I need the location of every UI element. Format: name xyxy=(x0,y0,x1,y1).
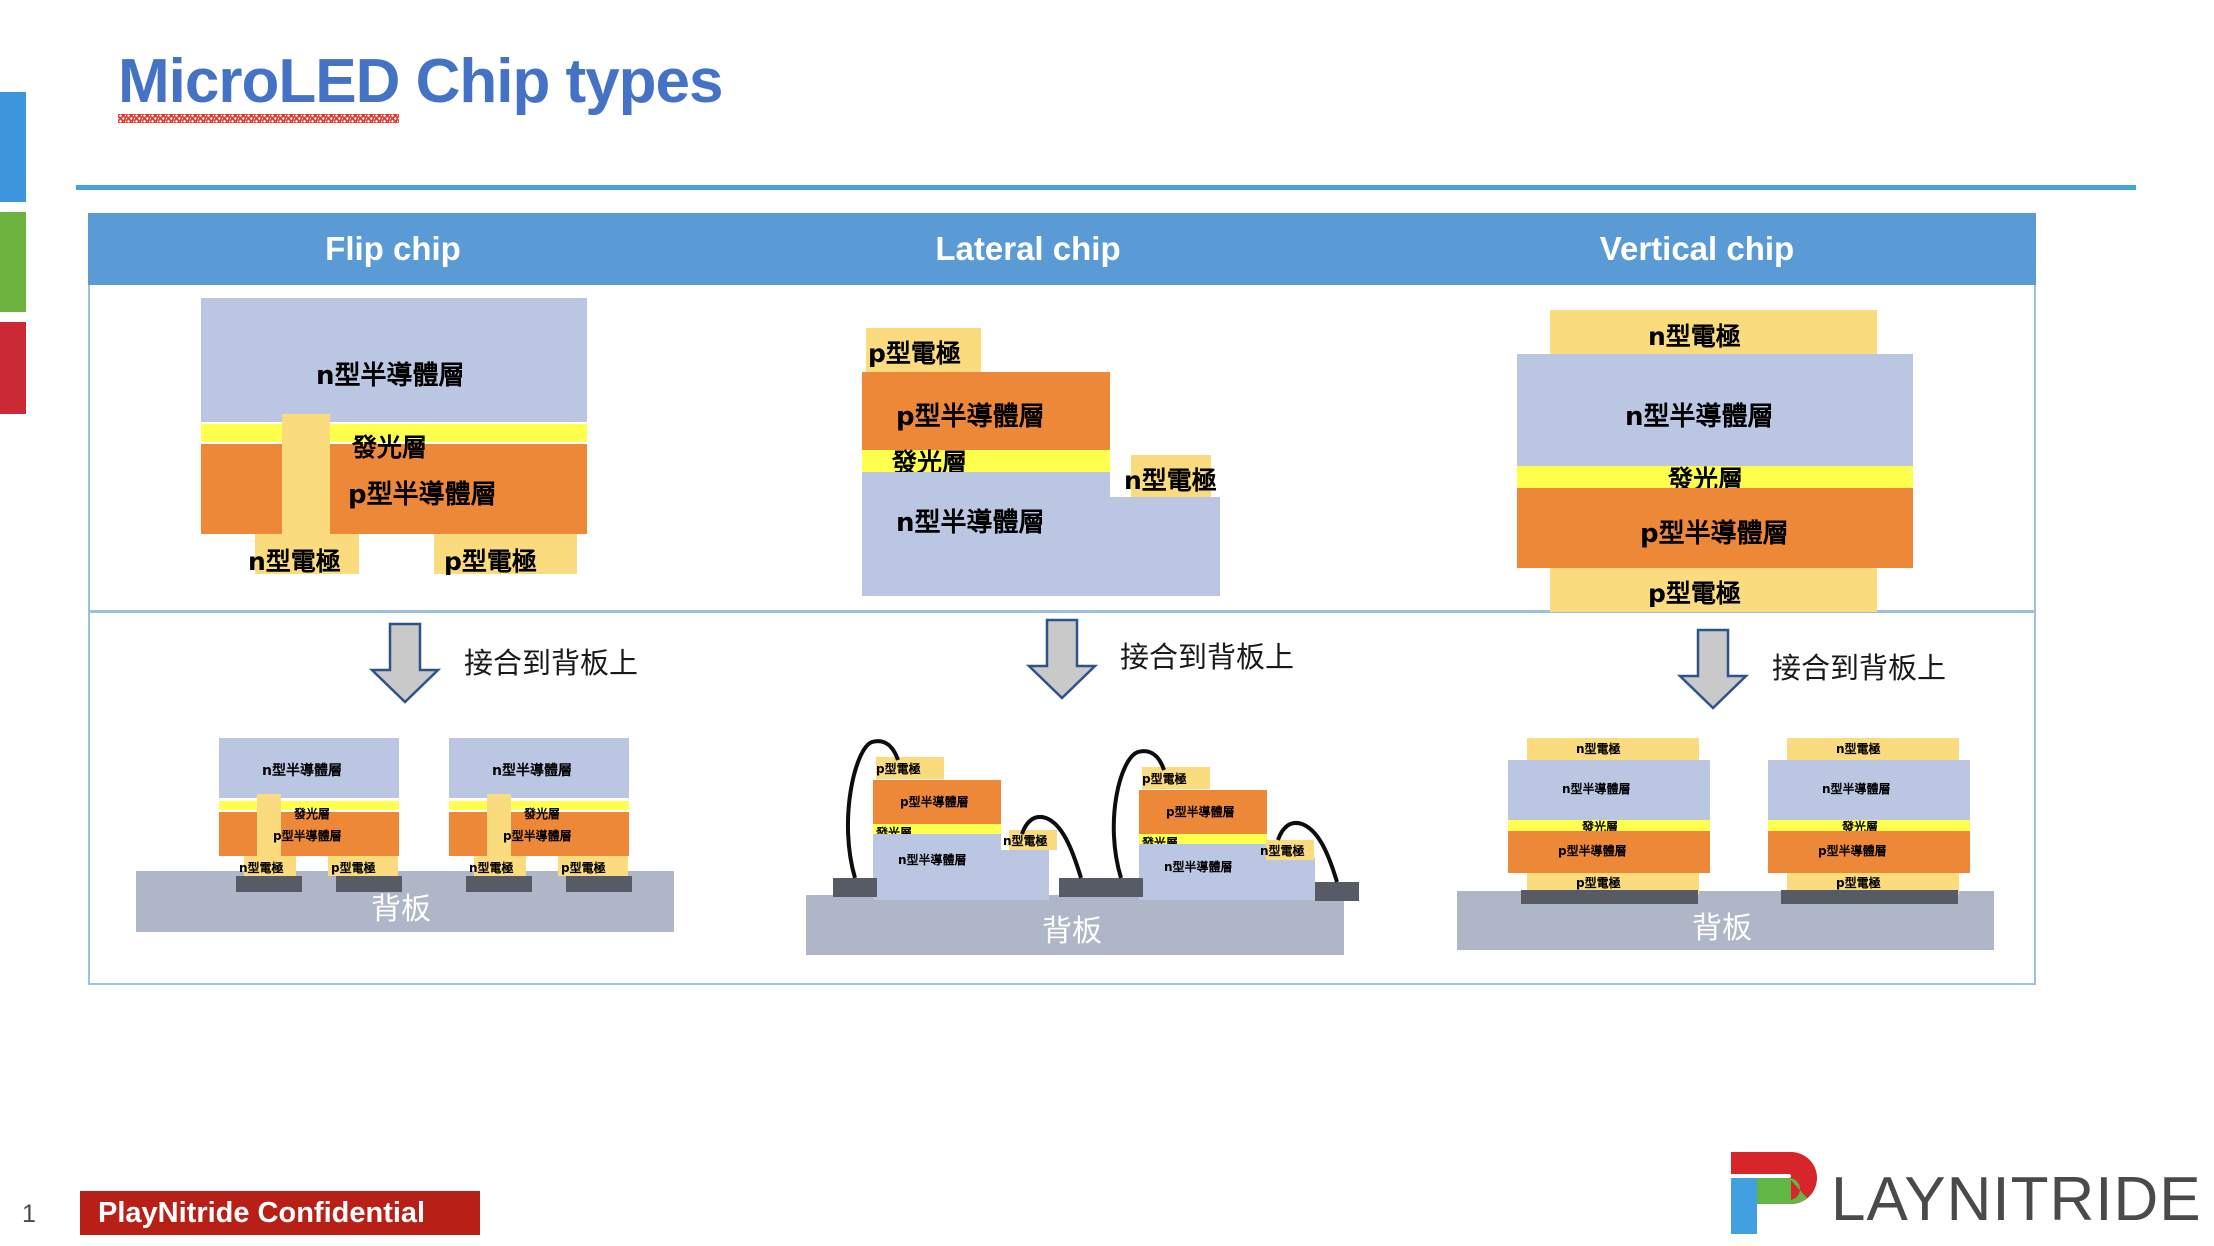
flip-bonded-solder-pad-a1 xyxy=(236,876,302,892)
lateral-bond-arrow-icon xyxy=(1025,618,1099,700)
slide-canvas: MicroLED Chip types Flip chip Lateral ch… xyxy=(0,0,2214,1246)
vertical-backplane-label: 背板 xyxy=(1692,903,1752,947)
flip-bonded-n-electrode-label-b: n型電極 xyxy=(469,859,514,876)
flip-bonded-solder-pad-b2 xyxy=(566,876,632,892)
flip-bonded-n-electrode-label-a: n型電極 xyxy=(239,859,284,876)
confidential-banner: PlayNitride Confidential xyxy=(80,1191,480,1235)
flip-bonded-solder-pad-a2 xyxy=(336,876,402,892)
vertical-bonded-n-electrode-label-b: n型電極 xyxy=(1836,740,1881,757)
spellcheck-squiggle-icon xyxy=(118,114,399,123)
flip-emitting-layer-label: 發光層 xyxy=(352,428,427,464)
vertical-bonded-p-semiconductor-label-a: p型半導體層 xyxy=(1558,842,1627,859)
accent-bar-green xyxy=(0,212,26,312)
vertical-bonded-p-semiconductor-label-b: p型半導體層 xyxy=(1818,842,1887,859)
vertical-bonded-p-electrode-label-b: p型電極 xyxy=(1836,874,1881,891)
playnitride-wordmark: LAYNITRIDE xyxy=(1831,1164,2202,1235)
lateral-p-electrode-label: p型電極 xyxy=(868,334,961,370)
lateral-bonded-n-semiconductor-step-a xyxy=(1001,850,1049,900)
lateral-bonded-p-semiconductor-label-a: p型半導體層 xyxy=(900,793,969,810)
lateral-bonded-p-electrode-label-b: p型電極 xyxy=(1142,770,1187,787)
lateral-backplane-label: 背板 xyxy=(1042,906,1102,950)
page-number: 1 xyxy=(22,1200,36,1229)
vertical-p-semiconductor-label: p型半導體層 xyxy=(1640,513,1789,550)
vertical-n-semiconductor-label: n型半導體層 xyxy=(1625,396,1774,433)
playnitride-logo: LAYNITRIDE xyxy=(1725,1148,2175,1240)
vertical-bonded-solder-pad-a xyxy=(1521,890,1698,904)
vertical-bonded-n-electrode-label-a: n型電極 xyxy=(1576,740,1621,757)
flip-bonded-p-electrode-label-a: p型電極 xyxy=(331,859,376,876)
vertical-bonded-n-semiconductor-label-a: n型半導體層 xyxy=(1562,780,1631,797)
title-divider xyxy=(76,185,2136,190)
lateral-n-semiconductor-block-step xyxy=(1110,497,1220,596)
accent-bar-blue xyxy=(0,92,26,202)
lateral-bonded-n-semiconductor-step-b xyxy=(1267,858,1315,900)
lateral-bonded-n-electrode-label-a: n型電極 xyxy=(1003,832,1048,849)
vertical-p-electrode-label: p型電極 xyxy=(1648,574,1741,610)
flip-p-electrode-label: p型電極 xyxy=(444,542,537,578)
vertical-bond-arrow-icon xyxy=(1676,628,1750,710)
flip-bonded-emitting-layer-label-a: 發光層 xyxy=(294,805,330,822)
vertical-n-electrode-label: n型電極 xyxy=(1648,317,1741,353)
flip-bond-arrow-label: 接合到背板上 xyxy=(464,640,638,682)
lateral-bonded-solder-pad-b1 xyxy=(1099,878,1143,897)
lateral-p-semiconductor-label: p型半導體層 xyxy=(896,396,1045,433)
playnitride-p-mark-icon xyxy=(1725,1148,1845,1240)
flip-bonded-emitting-layer-label-b: 發光層 xyxy=(524,805,560,822)
title-microled: MicroLED xyxy=(118,46,399,117)
column-header-flip-chip: Flip chip xyxy=(88,213,698,285)
lateral-bond-arrow-label: 接合到背板上 xyxy=(1120,634,1294,676)
flip-bonded-p-electrode-label-b: p型電極 xyxy=(561,859,606,876)
lateral-bonded-p-semiconductor-label-b: p型半導體層 xyxy=(1166,803,1235,820)
lateral-bonded-n-semiconductor-label-a: n型半導體層 xyxy=(898,851,967,868)
column-header-vertical-chip: Vertical chip xyxy=(1358,213,2036,285)
column-header-lateral-chip: Lateral chip xyxy=(698,213,1358,285)
vertical-bonded-p-electrode-label-a: p型電極 xyxy=(1576,874,1621,891)
vertical-bonded-n-semiconductor-label-b: n型半導體層 xyxy=(1822,780,1891,797)
flip-bond-arrow-icon xyxy=(368,622,442,704)
accent-bar-red xyxy=(0,322,26,414)
page-title: MicroLED Chip types xyxy=(118,46,723,117)
flip-n-electrode-label: n型電極 xyxy=(248,542,341,578)
lateral-bonded-solder-pad-a2 xyxy=(1059,878,1103,897)
lateral-bonded-p-electrode-label-a: p型電極 xyxy=(876,760,921,777)
flip-bonded-p-semiconductor-label-a: p型半導體層 xyxy=(273,827,342,844)
flip-p-semiconductor-label: p型半導體層 xyxy=(348,474,497,511)
vertical-bonded-solder-pad-b xyxy=(1781,890,1958,904)
flip-bonded-n-semiconductor-label-a: n型半導體層 xyxy=(262,760,342,780)
lateral-n-electrode-label: n型電極 xyxy=(1124,461,1217,497)
flip-n-semiconductor-label: n型半導體層 xyxy=(316,355,465,392)
flip-bonded-p-semiconductor-label-b: p型半導體層 xyxy=(503,827,572,844)
lateral-bonded-solder-pad-b2 xyxy=(1315,882,1359,901)
lateral-n-semiconductor-label: n型半導體層 xyxy=(896,502,1045,539)
lateral-bonded-solder-pad-a1 xyxy=(833,878,877,897)
lateral-bonded-n-semiconductor-label-b: n型半導體層 xyxy=(1164,858,1233,875)
vertical-bond-arrow-label: 接合到背板上 xyxy=(1772,645,1946,687)
flip-bonded-solder-pad-b1 xyxy=(466,876,532,892)
flip-bonded-n-semiconductor-label-b: n型半導體層 xyxy=(492,760,572,780)
title-chiptypes: Chip types xyxy=(399,47,722,116)
lateral-bonded-n-electrode-label-b: n型電極 xyxy=(1260,842,1305,859)
